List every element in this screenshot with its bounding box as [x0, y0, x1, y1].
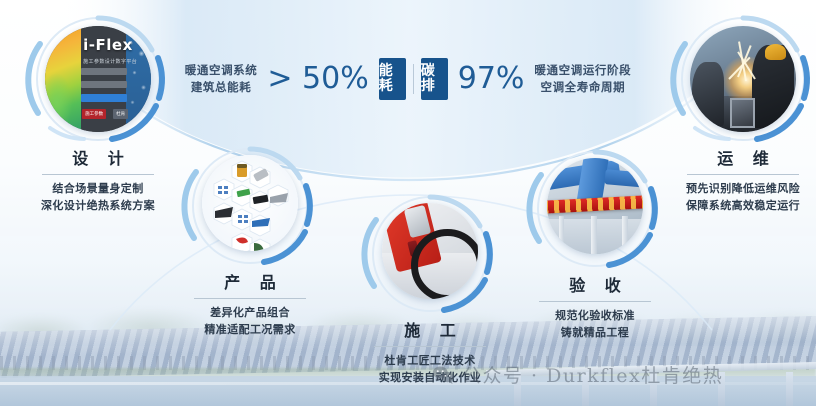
- operation-image: [690, 26, 796, 132]
- iflex-row: [81, 81, 127, 88]
- stat-right-value: 97%: [458, 64, 525, 94]
- iflex-subtitle: 施工参数设计数字平台: [83, 58, 137, 65]
- stat-right-caption: 暖通空调运行阶段 空调全寿命周期: [534, 62, 631, 97]
- safety-helmet: [765, 44, 786, 60]
- watermark-text: 公众号 · Durkflex杜肯绝热: [462, 361, 723, 388]
- node-desc-acceptance-line2: 铸就精品工程: [509, 324, 681, 341]
- product-label-block: 产 品 差异化产品组合 精准适配工况需求: [164, 273, 336, 338]
- equipment-box: [730, 98, 755, 127]
- node-title-operation: 运 维: [661, 149, 816, 170]
- red-inspection-banner: [547, 196, 643, 215]
- node-construction[interactable]: 施 工 杜肯工匠工法技术 实现安装自动化作业: [340, 192, 520, 386]
- node-desc-operation-line2: 保障系统高效稳定运行: [661, 197, 816, 214]
- support-pipe: [559, 216, 565, 254]
- stat-left-value: > 50%: [267, 64, 368, 94]
- acceptance-image: [547, 158, 643, 254]
- title-rule: [539, 301, 651, 302]
- support-pipe: [622, 216, 628, 254]
- iflex-software-ui: i-Flex 施工参数设计数字平台 施工参数 杜肯: [45, 26, 151, 132]
- node-desc-operation-line1: 预先识别降低运维风险: [661, 180, 816, 197]
- node-acceptance[interactable]: 验 收 规范化验收标准 铸就精品工程: [509, 147, 681, 341]
- iflex-chip-1: 施工参数: [82, 109, 106, 119]
- worker-left: [692, 62, 724, 126]
- bridge-pier: [786, 372, 793, 406]
- product-hex-grid: [202, 155, 298, 251]
- thermal-gradient-map: [45, 26, 83, 132]
- iflex-chip-2: 杜肯: [113, 109, 128, 119]
- badge-divider: [413, 64, 414, 94]
- operation-label-block: 运 维 预先识别降低运维风险 保障系统高效稳定运行: [661, 149, 816, 214]
- maintenance-site-photo: [690, 26, 796, 132]
- product-image: [202, 155, 298, 251]
- node-desc-product-line2: 精准适配工况需求: [164, 321, 336, 338]
- title-rule: [194, 298, 306, 299]
- stat-right-caption-line1: 暖通空调运行阶段: [534, 62, 631, 79]
- node-desc-acceptance-line1: 规范化验收标准: [509, 307, 681, 324]
- support-pipe: [591, 216, 597, 254]
- node-title-construction: 施 工: [340, 321, 520, 342]
- node-desc-product-line1: 差异化产品组合: [164, 304, 336, 321]
- badge-energy-consumption: 能耗: [379, 58, 406, 100]
- node-operation[interactable]: 运 维 预先识别降低运维风险 保障系统高效稳定运行: [661, 14, 816, 214]
- node-title-product: 产 品: [164, 273, 336, 294]
- stat-right-caption-line2: 空调全寿命周期: [534, 79, 631, 96]
- blue-duct-branch: [604, 170, 643, 189]
- iflex-footer: 施工参数 杜肯: [82, 109, 128, 119]
- badge-carbon-emission: 碳排: [421, 58, 448, 100]
- title-rule: [687, 174, 799, 175]
- cnc-cutting-machine: [382, 203, 478, 299]
- iflex-row-highlight: [81, 94, 127, 102]
- iflex-title: i-Flex: [83, 36, 133, 54]
- watermark: 公众号 · Durkflex杜肯绝热: [432, 361, 723, 388]
- infographic-canvas: 暖通空调系统 建筑总能耗 > 50% 能耗 碳排 97% 暖通空调运行阶段 空调…: [0, 0, 816, 406]
- metric-badges: 能耗 碳排: [379, 58, 448, 100]
- construction-image: [382, 203, 478, 299]
- wechat-icon: [432, 365, 455, 385]
- title-rule: [42, 174, 154, 175]
- node-title-acceptance: 验 收: [509, 276, 681, 297]
- acceptance-label-block: 验 收 规范化验收标准 铸就精品工程: [509, 276, 681, 341]
- ductwork-inspection: [547, 158, 643, 254]
- title-rule: [374, 346, 486, 347]
- node-product[interactable]: 产 品 差异化产品组合 精准适配工况需求: [164, 144, 336, 338]
- iflex-row: [81, 68, 127, 75]
- design-image: i-Flex 施工参数设计数字平台 施工参数 杜肯: [45, 26, 151, 132]
- black-duct-ring: [411, 229, 478, 299]
